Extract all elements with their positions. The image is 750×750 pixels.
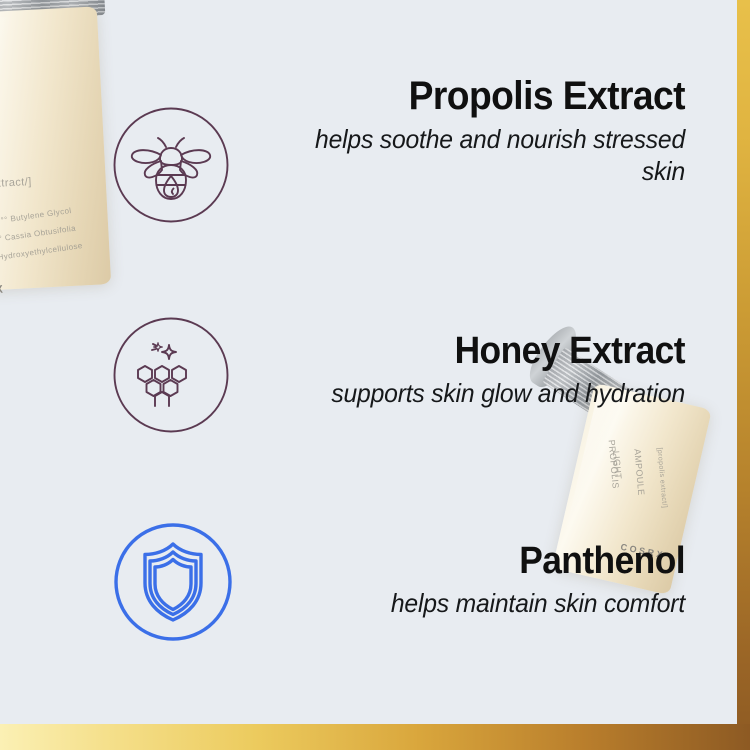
feature-title: Propolis Extract [294, 76, 685, 116]
feature-title: Honey Extract [294, 332, 685, 370]
feature-description: supports skin glow and hydration [286, 378, 685, 410]
feature-row-panthenol: Panthenol helps maintain skin comfort [265, 542, 685, 620]
gold-border-right [737, 0, 750, 750]
product-photo-top-left: POLIS POULE propolis extract/] Propolis … [0, 0, 128, 296]
feature-row-honey: Honey Extract supports skin glow and hyd… [265, 332, 685, 410]
bottle-brand: COSRX [0, 283, 6, 298]
feature-row-propolis: Propolis Extract helps soothe and nouris… [265, 76, 685, 187]
feature-description: helps soothe and nourish stressed skin [286, 124, 685, 187]
shield-icon [112, 521, 234, 648]
feature-description: helps maintain skin comfort [286, 588, 685, 620]
bee-icon [112, 106, 230, 229]
honeycomb-icon [112, 316, 230, 439]
bottle-label-line: [propolis extract/] [656, 447, 668, 508]
infographic-canvas: POLIS POULE propolis extract/] Propolis … [0, 0, 750, 750]
gold-border-bottom [0, 724, 750, 750]
feature-title: Panthenol [294, 542, 685, 580]
bottle-body: POLIS POULE propolis extract/] Propolis … [0, 6, 111, 291]
